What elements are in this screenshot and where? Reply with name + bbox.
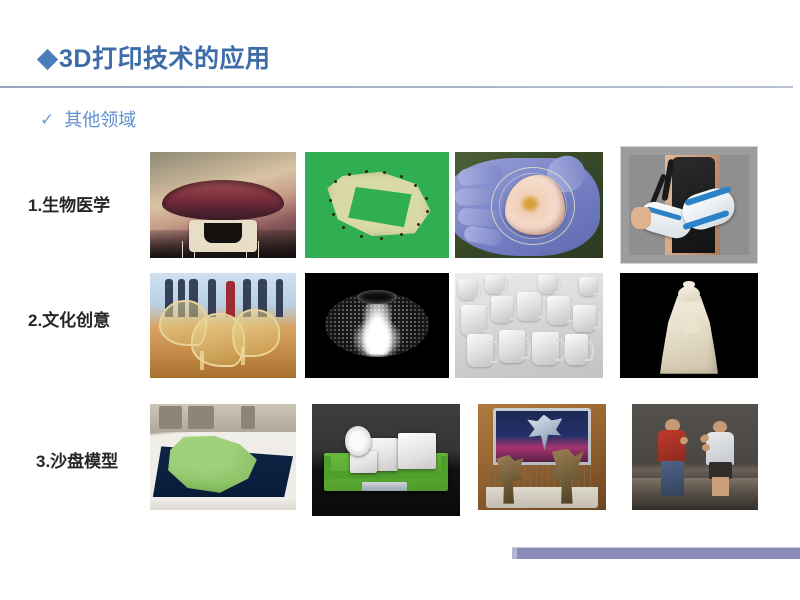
- printed-bone-plate-photo: [305, 152, 449, 258]
- floor-surface: [632, 478, 758, 510]
- pin-wire: [194, 241, 195, 258]
- printed-people-figures-photo: [632, 404, 758, 510]
- arm-brace-orthosis-photo: [629, 155, 749, 255]
- shoe-shape: [232, 309, 280, 357]
- lamp-core-glow: [364, 302, 391, 355]
- page-title: 3D打印技术的应用: [40, 47, 270, 72]
- subtitle: ✓ 其他领域: [40, 106, 136, 132]
- diamond-bullet-icon: [37, 49, 58, 70]
- image-ceramic-cups: [455, 273, 603, 378]
- architectural-site-model-photo: [312, 404, 460, 516]
- buddha-figurine-photo: [620, 273, 758, 378]
- bionic-ear-in-gloved-hand-photo: [455, 152, 603, 258]
- footer-accent-bar: [512, 547, 800, 559]
- white-ceramic-cups-photo: [455, 273, 603, 378]
- pin-wire: [246, 241, 247, 258]
- category-label-cultural-creative: 2.文化创意: [28, 306, 110, 331]
- image-printed-shoes: [150, 273, 296, 378]
- hands-shape: [681, 319, 699, 333]
- woman-figure: [705, 421, 735, 497]
- head-shape: [678, 286, 700, 303]
- model-plaque: [362, 482, 406, 491]
- surgical-implant-photo: [150, 152, 296, 258]
- image-lattice-lamp: [305, 273, 449, 378]
- image-architectural-model: [312, 404, 460, 516]
- category-label-sand-table-model: 3.沙盘模型: [36, 447, 118, 472]
- pin-wire: [258, 241, 259, 258]
- topknot-shape: [683, 281, 694, 287]
- dome-structure: [345, 426, 372, 455]
- page-title-text: 3D打印技术的应用: [59, 47, 270, 72]
- terrain-relief-model-photo: [150, 404, 296, 510]
- image-bionic-ear: [455, 152, 603, 258]
- subtitle-text: 其他领域: [64, 106, 136, 132]
- image-terrain-model: [150, 404, 296, 510]
- model-frame: [150, 497, 296, 510]
- pin-wire: [182, 241, 183, 258]
- image-arm-brace: [620, 146, 758, 264]
- hand-shape: [631, 207, 650, 229]
- laptop-palmrest: [486, 487, 599, 508]
- image-printed-bone-plate: [305, 152, 449, 258]
- image-printed-people-figures: [632, 404, 758, 510]
- robe-shape: [660, 296, 718, 374]
- category-label-biomedical: 1.生物医学: [28, 191, 110, 216]
- image-surgical-implant: [150, 152, 296, 258]
- image-buddha-figurine: [620, 273, 758, 378]
- title-divider: [0, 86, 793, 88]
- man-figure: [657, 419, 687, 500]
- lattice-lamp-render: [305, 273, 449, 378]
- image-laptop-with-models: [478, 404, 606, 510]
- check-icon: ✓: [40, 111, 54, 128]
- printed-designer-shoes-photo: [150, 273, 296, 378]
- laptop-with-dragon-model-photo: [478, 404, 606, 510]
- slide: 3D打印技术的应用 ✓ 其他领域 1.生物医学 2.文化创意 3.沙盘模型: [0, 0, 800, 600]
